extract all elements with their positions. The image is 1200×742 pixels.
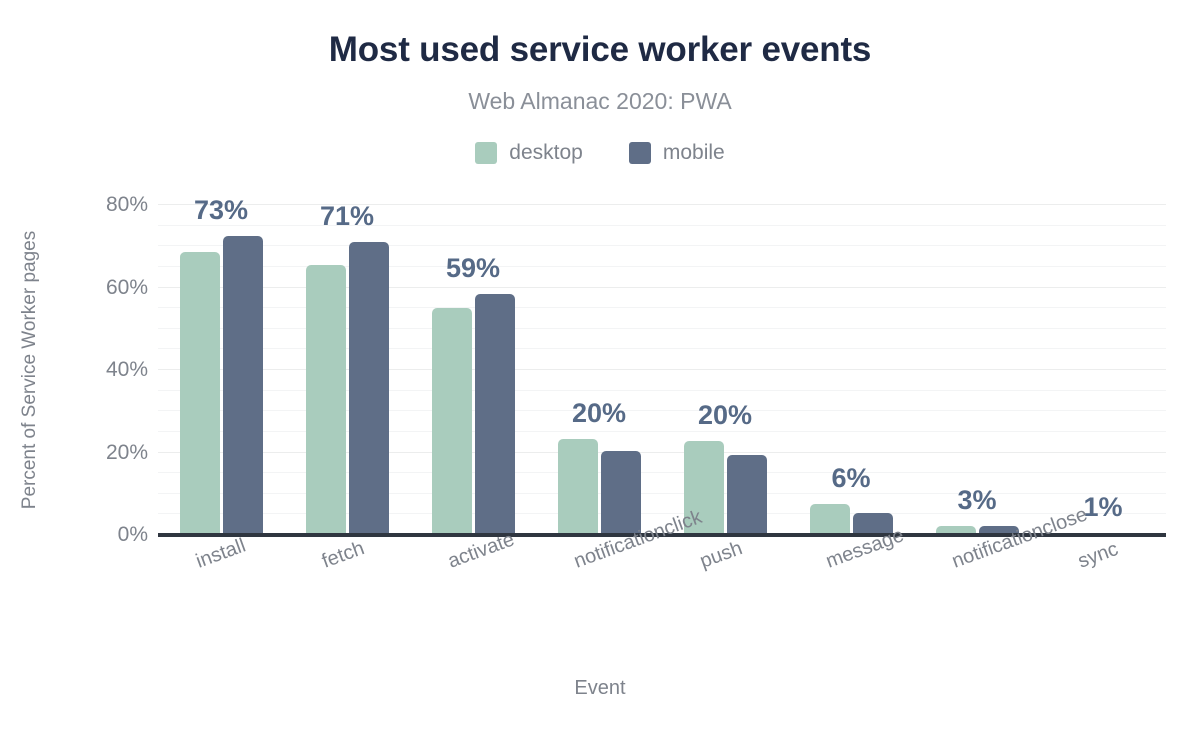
- x-axis-label-push: push: [697, 537, 746, 573]
- bar-value-label-fetch: 71%: [267, 201, 427, 232]
- chart-subtitle: Web Almanac 2020: PWA: [0, 88, 1200, 115]
- chart-legend: desktopmobile: [0, 141, 1200, 165]
- y-axis-tick-label: 60%: [0, 276, 148, 300]
- y-axis-tick-label: 20%: [0, 441, 148, 465]
- bar-push-mobile[interactable]: [727, 455, 767, 535]
- legend-swatch-icon: [629, 142, 651, 164]
- x-axis-title: Event: [0, 677, 1200, 700]
- bar-message-desktop[interactable]: [810, 504, 850, 535]
- bar-notificationclick-mobile[interactable]: [601, 451, 641, 535]
- bar-fetch-mobile[interactable]: [349, 242, 389, 535]
- legend-swatch-icon: [475, 142, 497, 164]
- x-axis-label-fetch: fetch: [319, 537, 368, 573]
- bar-group-notificationclick: [558, 205, 641, 535]
- bar-notificationclick-desktop[interactable]: [558, 439, 598, 535]
- legend-label: desktop: [509, 141, 583, 165]
- legend-item-mobile[interactable]: mobile: [629, 141, 725, 165]
- y-axis-tick-label: 80%: [0, 193, 148, 217]
- bar-group-push: [684, 205, 767, 535]
- bar-group-install: [180, 205, 263, 535]
- chart-title: Most used service worker events: [0, 30, 1200, 70]
- x-axis-label-sync: sync: [1075, 538, 1122, 574]
- bar-activate-mobile[interactable]: [475, 294, 515, 535]
- bar-group-sync: [1062, 205, 1145, 535]
- legend-item-desktop[interactable]: desktop: [475, 141, 583, 165]
- bar-install-desktop[interactable]: [180, 252, 220, 535]
- y-axis-tick-label: 0%: [0, 523, 148, 547]
- bar-value-label-push: 20%: [645, 400, 805, 431]
- legend-label: mobile: [663, 141, 725, 165]
- x-axis-label-install: install: [193, 535, 249, 574]
- bar-group-fetch: [306, 205, 389, 535]
- bar-activate-desktop[interactable]: [432, 308, 472, 535]
- bar-install-mobile[interactable]: [223, 236, 263, 535]
- bar-chart: Most used service worker events Web Alma…: [0, 0, 1200, 742]
- y-axis-tick-label: 40%: [0, 358, 148, 382]
- plot-area: 0%20%40%60%80% 73%71%59%20%20%6%3%1%: [158, 205, 1166, 535]
- bar-fetch-desktop[interactable]: [306, 265, 346, 535]
- bar-value-label-activate: 59%: [393, 253, 553, 284]
